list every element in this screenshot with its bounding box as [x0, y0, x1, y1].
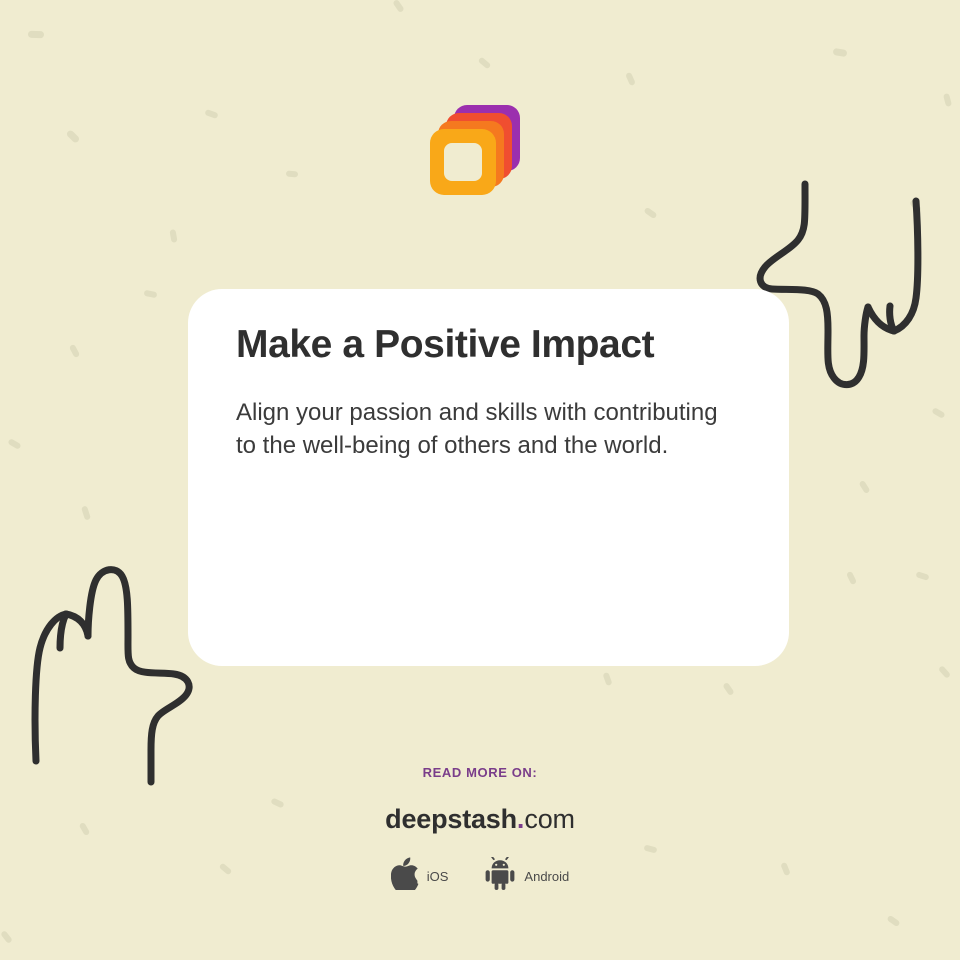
confetti-speck — [602, 672, 612, 686]
confetti-speck — [144, 290, 158, 299]
confetti-speck — [81, 505, 91, 520]
store-label-android: Android — [524, 869, 569, 884]
confetti-speck — [286, 170, 298, 177]
confetti-speck — [846, 571, 857, 585]
android-icon — [484, 857, 516, 895]
app-store-badges: iOS — [0, 857, 960, 895]
confetti-speck — [0, 930, 13, 944]
idea-card: Make a Positive Impact Align your passio… — [188, 289, 789, 666]
confetti-speck — [478, 57, 492, 70]
brand-tld: com — [524, 804, 574, 834]
quote-card-poster: Make a Positive Impact Align your passio… — [0, 0, 960, 960]
brand-name: deepstash — [385, 804, 517, 834]
confetti-speck — [69, 344, 80, 358]
confetti-speck — [931, 407, 945, 419]
page-title: Make a Positive Impact — [236, 323, 741, 368]
confetti-speck — [169, 229, 177, 243]
confetti-speck — [643, 207, 657, 219]
confetti-speck — [7, 438, 21, 450]
store-badge-ios[interactable]: iOS — [391, 857, 449, 895]
footer: READ MORE ON: deepstash.com iOS — [0, 765, 960, 895]
confetti-speck — [204, 109, 218, 119]
apple-icon — [391, 857, 419, 895]
confetti-speck — [859, 480, 871, 494]
card-body-text: Align your passion and skills with contr… — [236, 396, 741, 462]
confetti-speck — [722, 682, 734, 696]
confetti-speck — [392, 0, 404, 13]
read-more-label: READ MORE ON: — [0, 765, 960, 780]
confetti-speck — [915, 571, 929, 581]
deepstash-logo-icon — [430, 105, 520, 195]
store-label-ios: iOS — [427, 869, 449, 884]
confetti-speck — [625, 72, 636, 86]
store-badge-android[interactable]: Android — [484, 857, 569, 895]
confetti-speck — [28, 31, 44, 39]
confetti-speck — [943, 93, 952, 107]
confetti-speck — [909, 199, 922, 213]
confetti-speck — [832, 48, 847, 57]
logo-inner-cutout — [444, 143, 482, 181]
confetti-speck — [66, 129, 81, 144]
brand-wordmark: deepstash.com — [0, 806, 960, 833]
confetti-speck — [938, 665, 951, 679]
confetti-speck — [886, 915, 900, 927]
